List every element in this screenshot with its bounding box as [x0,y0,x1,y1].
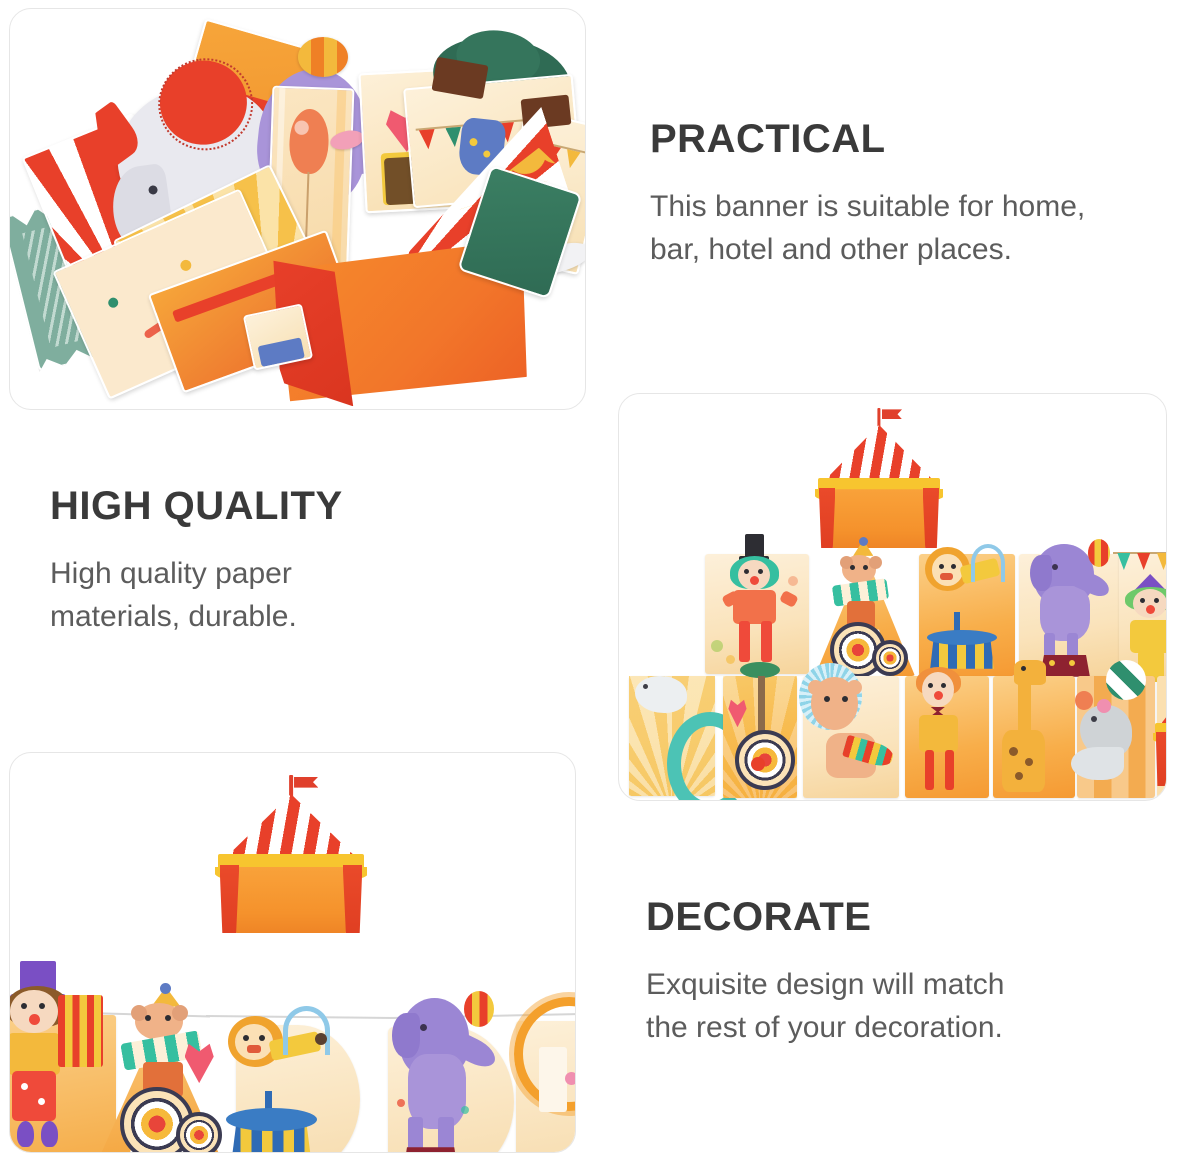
product-image-card-assembled [618,393,1167,801]
tent-flag [882,409,902,419]
hanging-illustration [10,753,575,1152]
seal-white-left [635,666,693,718]
feature-decorate: DECORATE Exquisite design will match the… [646,896,1116,1049]
striped-ball-icon [1106,660,1146,700]
tent-on-letter-A [1153,660,1167,786]
decorate-heading: DECORATE [646,896,1116,938]
circus-tent-icon [815,408,943,548]
practical-body: This banner is suitable for home, bar, h… [650,186,1175,271]
elephant-hanging-figure [382,991,510,1153]
tent-pole [877,408,880,428]
tent-flag-hanging [294,777,318,788]
giraffe-figure [987,660,1061,800]
decorate-body-line2: the rest of your decoration. [646,1011,1003,1044]
elephant-pedestal-hanging [402,1147,458,1153]
circus-tent-icon-hanging [215,775,367,933]
bear-on-unicycle [825,540,903,672]
lion-pedestal-hanging [228,1009,352,1153]
balloon-ball-red [1088,539,1110,567]
bear-with-horn [795,660,907,800]
pile-piece-striped-ball [298,37,348,77]
scatter-illustration [10,9,585,409]
decorate-body: Exquisite design will match the rest of … [646,964,1116,1049]
tent-curtain-right [923,488,940,548]
tent-pole-hanging [289,775,293,797]
tent-curtain-left [819,488,836,548]
feature-high-quality: HIGH QUALITY High quality paper material… [50,485,470,638]
lion-on-pedestal [925,544,1011,674]
product-image-card-hanging [9,752,576,1153]
striped-ball-on-trunk [464,991,494,1027]
high-quality-heading: HIGH QUALITY [50,485,470,527]
clown-with-bowtie [909,664,981,798]
seal-with-ball [1071,660,1163,800]
practical-heading: PRACTICAL [650,118,1175,160]
practical-body-line1: This banner is suitable for home, [650,190,1085,223]
product-image-card-scatter [9,8,586,410]
high-quality-body-line1: High quality paper [50,557,292,590]
high-quality-body: High quality paper materials, durable. [50,553,470,638]
practical-body-line2: bar, hotel and other places. [650,233,1012,266]
high-quality-body-line2: materials, durable. [50,600,297,633]
assembled-illustration [619,394,1166,800]
clown-face-hanging [10,990,58,1034]
bear-unicycle-hanging [116,987,220,1153]
tent-curtain-right-hanging [343,865,363,933]
decorate-body-line1: Exquisite design will match [646,968,1005,1001]
unicycle-with-saddle [727,662,797,798]
clown-purple-hat-figure [9,961,114,1151]
feature-practical: PRACTICAL This banner is suitable for ho… [650,118,1175,271]
tent-body-hanging [229,867,354,933]
purple-elephant-figure [1017,536,1113,674]
fire-ring-hanging [510,993,576,1153]
clown-figure-green-hair [723,534,797,662]
tent-curtain-left-hanging [220,865,240,933]
